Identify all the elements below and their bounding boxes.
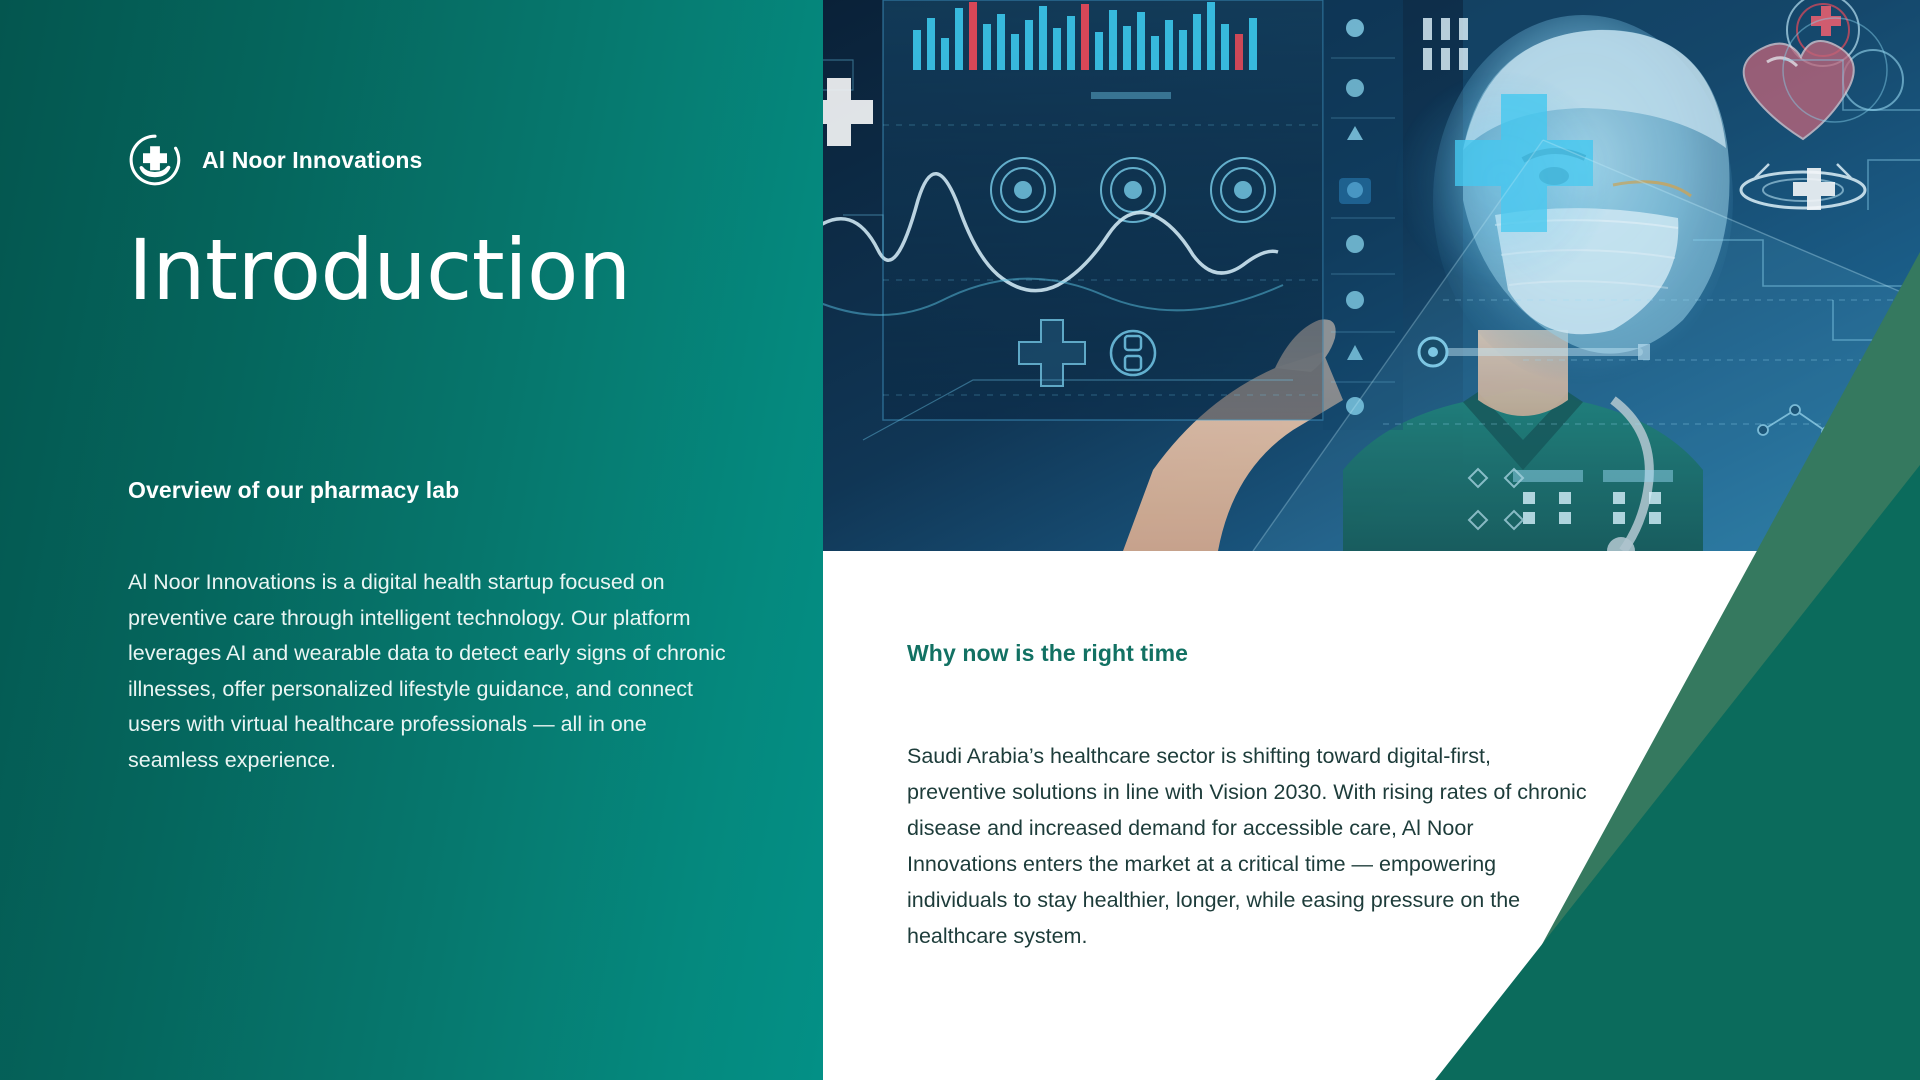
right-body-text: Saudi Arabia’s healthcare sector is shif…	[907, 738, 1587, 954]
left-body-text: Al Noor Innovations is a digital health …	[128, 565, 728, 778]
photo-hud-panel	[823, 0, 1323, 440]
brand-name: Al Noor Innovations	[202, 147, 422, 174]
medical-hud-photo-illustration	[823, 0, 1920, 551]
hero-photo	[823, 0, 1920, 551]
left-panel: Al Noor Innovations Introduction Overvie…	[0, 0, 823, 1080]
right-subheading: Why now is the right time	[907, 640, 1188, 667]
left-subheading: Overview of our pharmacy lab	[128, 477, 728, 504]
page-title: Introduction	[128, 228, 631, 312]
medical-cross-in-hand-circle-logo	[128, 133, 182, 187]
brand-logo	[128, 133, 182, 187]
brand-lockup: Al Noor Innovations	[128, 133, 422, 187]
slide-root: Al Noor Innovations Introduction Overvie…	[0, 0, 1920, 1080]
